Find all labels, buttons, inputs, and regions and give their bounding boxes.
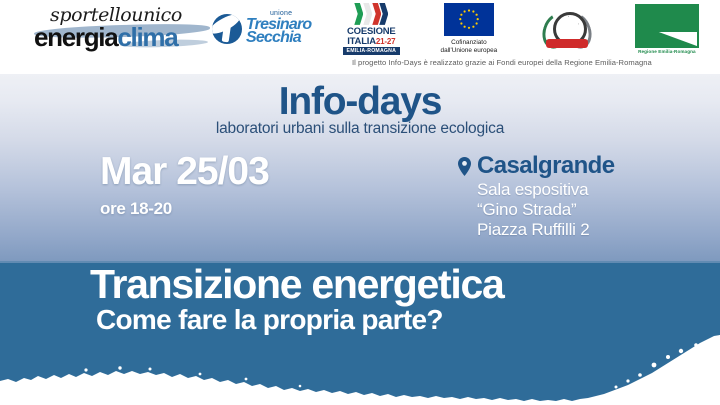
republic-emblem-icon (540, 7, 594, 51)
logo-unione-europea: Cofinanziato dall'Unione europea (417, 0, 521, 58)
event-venue: Sala espositiva (477, 180, 708, 200)
event-headline-sub: Come fare la propria parte? (96, 306, 716, 334)
logo-unione-tresinaro-secchia: unione Tresinaro Secchia (210, 0, 326, 58)
tresinaro-circle-icon (212, 14, 242, 44)
logo-row: sportellounico energiaclima unione Tresi… (0, 0, 720, 58)
logo-sportello-unico-energia-clima: sportellounico energiaclima (0, 0, 210, 58)
logo-regione-emilia-romagna: Regione Emilia-Romagna (614, 0, 720, 58)
sportello-word-clima: clima (117, 22, 177, 52)
map-pin-icon (458, 157, 471, 176)
regione-green-mark-icon (635, 4, 699, 48)
poster-content: Info-days laboratori urbani sulla transi… (0, 74, 720, 405)
sportello-word-energia: energia (34, 22, 117, 52)
event-location-block: Casalgrande Sala espositiva “Gino Strada… (458, 154, 708, 240)
event-address: Piazza Ruffilli 2 (477, 220, 708, 240)
page-title: Info-days (0, 82, 720, 121)
eu-caption-line2: dall'Unione europea (441, 47, 498, 55)
funding-note: Il progetto Info-Days è realizzato grazi… (352, 58, 712, 67)
tresinaro-label-line2: Secchia (246, 30, 301, 46)
regione-caption: Regione Emilia-Romagna (635, 49, 699, 54)
logo-header: sportellounico energiaclima unione Tresi… (0, 0, 720, 74)
eu-caption-line1: Cofinanziato (441, 39, 498, 47)
coesione-label-years: 21-27 (376, 37, 395, 46)
event-time: ore 18-20 (100, 199, 400, 219)
coesione-label-region: EMILIA-ROMAGNA (343, 47, 400, 55)
coesione-label-line2: ITALIA (347, 36, 376, 47)
eu-flag-icon (444, 3, 494, 36)
event-date-block: Mar 25/03 ore 18-20 (100, 152, 400, 219)
event-headline: Transizione energetica (90, 264, 710, 305)
event-city: Casalgrande (477, 154, 614, 178)
page-subtitle: laboratori urbani sulla transizione ecol… (0, 120, 720, 138)
logo-coesione-italia: COESIONE ITALIA21-27 EMILIA-ROMAGNA (326, 0, 417, 58)
event-date: Mar 25/03 (100, 152, 400, 191)
logo-repubblica-italiana (521, 0, 614, 58)
event-venue-name: “Gino Strada” (477, 200, 708, 220)
italian-flag-arrow-icon (354, 3, 388, 25)
event-poster: sportellounico energiaclima unione Tresi… (0, 0, 720, 405)
